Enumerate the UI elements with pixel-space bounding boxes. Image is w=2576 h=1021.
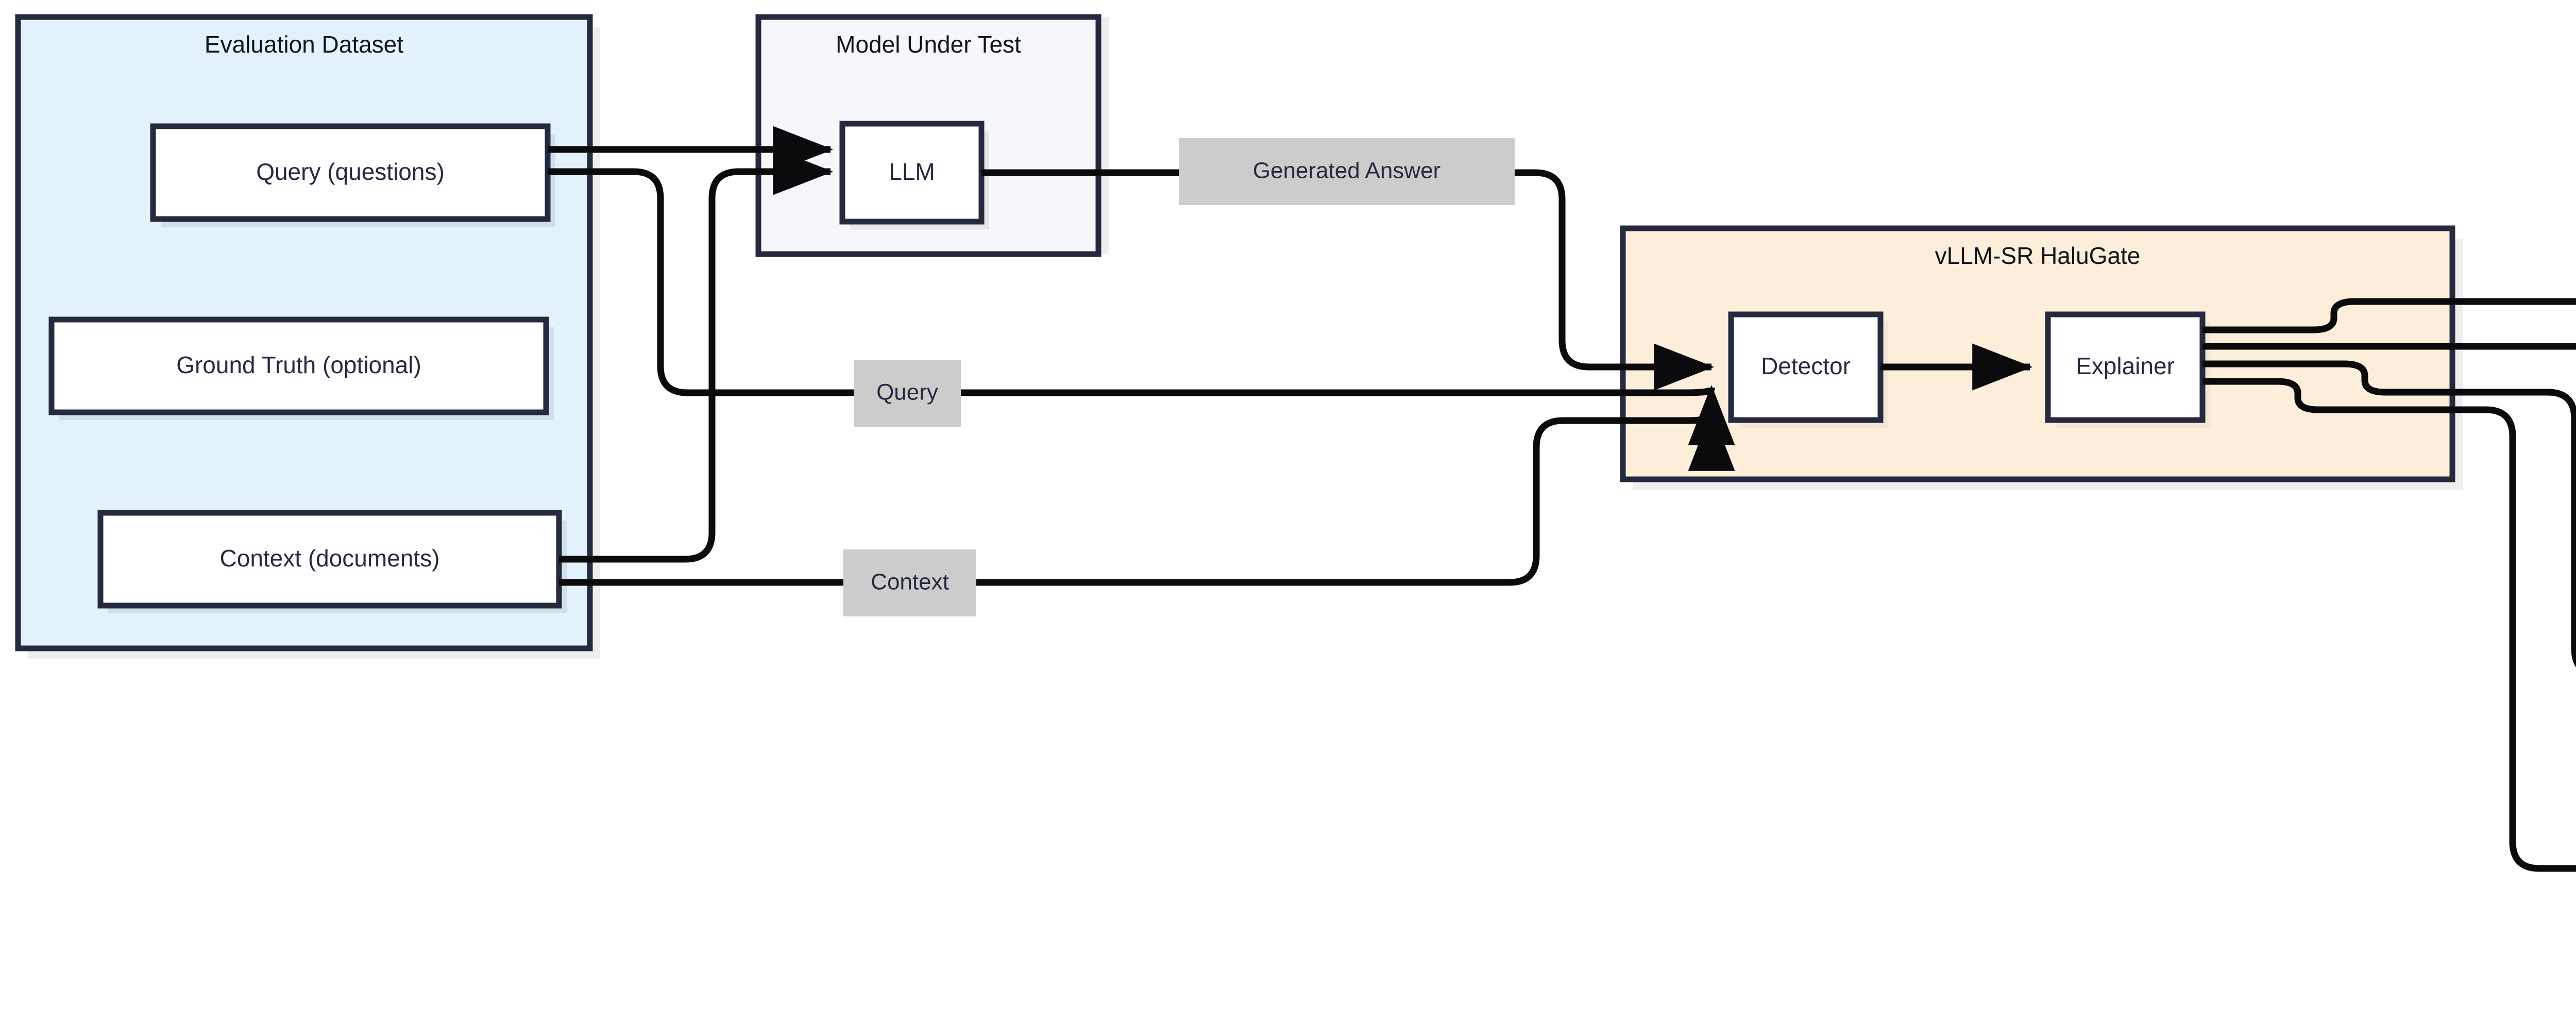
cluster-halugate: vLLM-SR HaluGate Detector Explainer [1623,228,2452,479]
edge-label-query: Query [876,380,938,405]
node-context-label: Context (documents) [220,545,440,572]
edge-label-generated-answer: Generated Answer [1253,158,1440,183]
cluster-evaluation-dataset-title: Evaluation Dataset [205,31,403,58]
node-ground-truth-label: Ground Truth (optional) [176,352,421,378]
cluster-model-under-test: Model Under Test LLM [758,17,1098,254]
cluster-halugate-title: vLLM-SR HaluGate [1935,242,2141,269]
edge-query-to-detector [548,172,1711,393]
flowchart-svg: Evaluation Dataset Query (questions) Gro… [0,0,2576,1021]
edge-context-to-detector [559,413,1711,582]
node-explainer-label: Explainer [2076,353,2175,379]
cluster-model-under-test-title: Model Under Test [836,31,1021,58]
node-query-label: Query (questions) [256,158,445,185]
edge-label-context: Context [871,570,949,595]
cluster-evaluation-dataset: Evaluation Dataset Query (questions) Gro… [18,17,590,648]
flowchart-canvas: Evaluation Dataset Query (questions) Gro… [0,0,2576,1021]
node-llm-label: LLM [889,158,935,185]
node-detector-label: Detector [1761,353,1851,379]
